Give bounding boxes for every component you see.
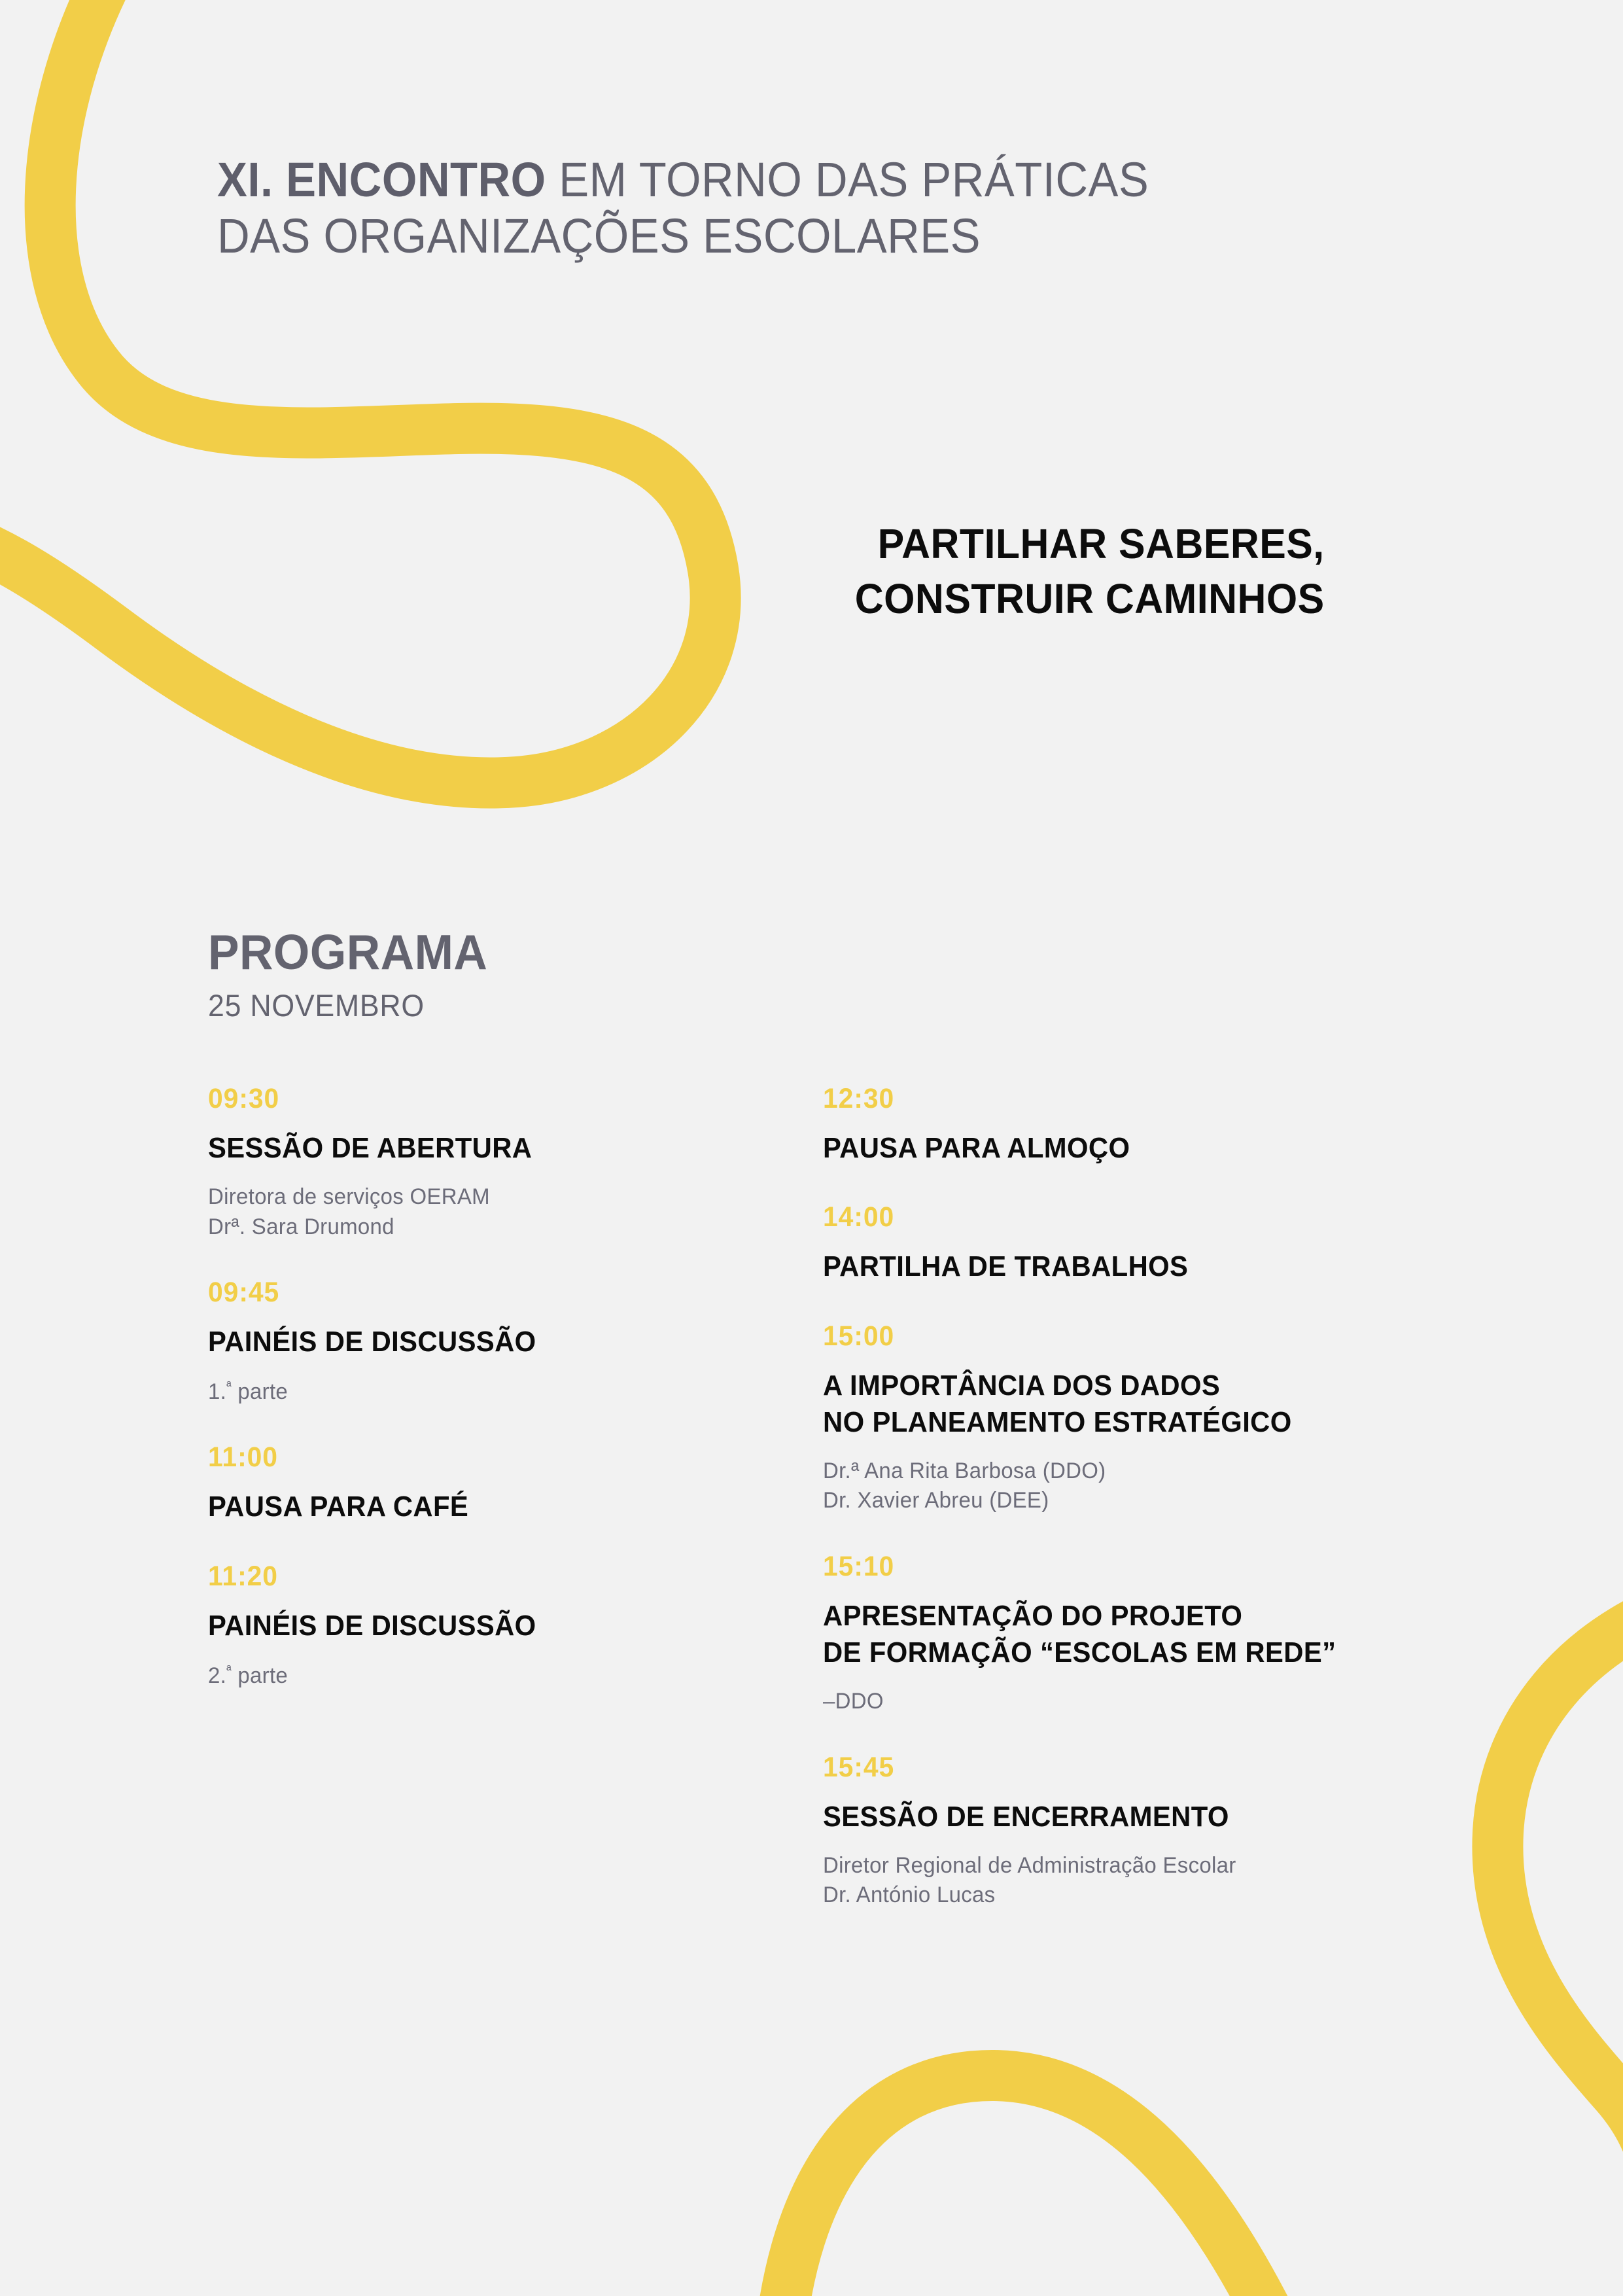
entry-time: 11:20 bbox=[208, 1563, 742, 1591]
programme-heading: PROGRAMA bbox=[208, 928, 487, 977]
programme-column-afternoon: 12:30 PAUSA PARA ALMOÇO 14:00 PARTILHA D… bbox=[823, 1085, 1451, 1910]
schedule-entry: 11:00 PAUSA PARA CAFÉ bbox=[208, 1443, 771, 1525]
entry-title: PAUSA PARA ALMOÇO bbox=[823, 1130, 1420, 1167]
entry-title: PAINÉIS DE DISCUSSÃO bbox=[208, 1324, 742, 1360]
entry-detail-line: –DDO bbox=[823, 1687, 1432, 1716]
entry-title: PAUSA PARA CAFÉ bbox=[208, 1489, 742, 1525]
entry-title: SESSÃO DE ENCERRAMENTO bbox=[823, 1799, 1420, 1835]
entry-time: 12:30 bbox=[823, 1085, 1420, 1113]
entry-detail-line: Diretora de serviços OERAM bbox=[208, 1182, 754, 1212]
event-title-edition: XI. ENCONTRO bbox=[217, 152, 546, 207]
event-tagline: PARTILHAR SABERES, CONSTRUIR CAMINHOS bbox=[830, 517, 1325, 627]
entry-detail-line: Dr. António Lucas bbox=[823, 1881, 1432, 1910]
event-title-line-1: XI. ENCONTRO EM TORNO DAS PRÁTICAS bbox=[217, 152, 1373, 208]
ordinal-indicator: ª bbox=[226, 1379, 232, 1394]
entry-detail-line: Diretor Regional de Administração Escola… bbox=[823, 1851, 1432, 1881]
schedule-entry: 11:20 PAINÉIS DE DISCUSSÃO 2.ª parte bbox=[208, 1563, 771, 1691]
ribbon-top-left-icon bbox=[0, 0, 716, 783]
poster-header: XI. ENCONTRO EM TORNO DAS PRÁTICAS DAS O… bbox=[217, 152, 1460, 264]
schedule-entry: 15:10 APRESENTAÇÃO DO PROJETO DE FORMAÇÃ… bbox=[823, 1553, 1451, 1717]
schedule-entry: 09:30 SESSÃO DE ABERTURA Diretora de ser… bbox=[208, 1085, 771, 1242]
entry-detail: –DDO bbox=[823, 1687, 1432, 1716]
ordinal-indicator: ª bbox=[226, 1663, 232, 1678]
programme-heading-block: PROGRAMA 25 NOVEMBRO bbox=[208, 928, 502, 1021]
event-programme-poster: XI. ENCONTRO EM TORNO DAS PRÁTICAS DAS O… bbox=[0, 0, 1623, 2296]
entry-time: 11:00 bbox=[208, 1443, 742, 1472]
tagline-line-2: CONSTRUIR CAMINHOS bbox=[855, 572, 1325, 627]
schedule-entry: 14:00 PARTILHA DE TRABALHOS bbox=[823, 1203, 1451, 1285]
entry-time: 09:30 bbox=[208, 1085, 742, 1113]
entry-detail: Dr.ª Ana Rita Barbosa (DDO) Dr. Xavier A… bbox=[823, 1457, 1432, 1515]
ribbon-bottom-right-icon bbox=[1497, 1597, 1623, 2296]
schedule-entry: 15:00 A IMPORTÂNCIA DOS DADOS NO PLANEAM… bbox=[823, 1322, 1451, 1516]
ribbon-bottom-arch-icon bbox=[778, 2075, 1328, 2296]
schedule-entry: 15:45 SESSÃO DE ENCERRAMENTO Diretor Reg… bbox=[823, 1754, 1451, 1911]
entry-detail-line: Drª. Sara Drumond bbox=[208, 1212, 754, 1242]
entry-detail: 2.ª parte bbox=[208, 1661, 754, 1691]
entry-title: SESSÃO DE ABERTURA bbox=[208, 1130, 742, 1167]
tagline-line-1: PARTILHAR SABERES, bbox=[855, 517, 1325, 572]
entry-title-line: NO PLANEAMENTO ESTRATÉGICO bbox=[823, 1404, 1420, 1441]
entry-detail: Diretor Regional de Administração Escola… bbox=[823, 1851, 1432, 1910]
programme-date: 25 NOVEMBRO bbox=[208, 990, 487, 1021]
entry-title: APRESENTAÇÃO DO PROJETO DE FORMAÇÃO “ESC… bbox=[823, 1598, 1420, 1672]
entry-detail-line: 1.ª parte bbox=[208, 1377, 754, 1407]
entry-title-line: DE FORMAÇÃO “ESCOLAS EM REDE” bbox=[823, 1634, 1420, 1671]
schedule-entry: 09:45 PAINÉIS DE DISCUSSÃO 1.ª parte bbox=[208, 1279, 771, 1407]
event-title-subject: EM TORNO DAS PRÁTICAS bbox=[546, 152, 1149, 207]
event-title-line-2: DAS ORGANIZAÇÕES ESCOLARES bbox=[217, 208, 1373, 264]
entry-time: 15:45 bbox=[823, 1754, 1420, 1782]
entry-title: PAINÉIS DE DISCUSSÃO bbox=[208, 1608, 742, 1644]
entry-detail-line: 2.ª parte bbox=[208, 1661, 754, 1691]
entry-time: 14:00 bbox=[823, 1203, 1420, 1231]
entry-title-line: A IMPORTÂNCIA DOS DADOS bbox=[823, 1368, 1420, 1404]
entry-title-line: APRESENTAÇÃO DO PROJETO bbox=[823, 1598, 1420, 1634]
entry-detail-line: Dr.ª Ana Rita Barbosa (DDO) bbox=[823, 1457, 1432, 1486]
entry-time: 15:00 bbox=[823, 1322, 1420, 1351]
entry-detail-line: Dr. Xavier Abreu (DEE) bbox=[823, 1486, 1432, 1515]
entry-detail: 1.ª parte bbox=[208, 1377, 754, 1407]
schedule-entry: 12:30 PAUSA PARA ALMOÇO bbox=[823, 1085, 1451, 1167]
programme-column-morning: 09:30 SESSÃO DE ABERTURA Diretora de ser… bbox=[208, 1085, 771, 1691]
entry-title: A IMPORTÂNCIA DOS DADOS NO PLANEAMENTO E… bbox=[823, 1368, 1420, 1441]
entry-time: 09:45 bbox=[208, 1279, 742, 1307]
entry-time: 15:10 bbox=[823, 1553, 1420, 1581]
entry-title: PARTILHA DE TRABALHOS bbox=[823, 1248, 1420, 1285]
entry-detail: Diretora de serviços OERAM Drª. Sara Dru… bbox=[208, 1182, 754, 1241]
